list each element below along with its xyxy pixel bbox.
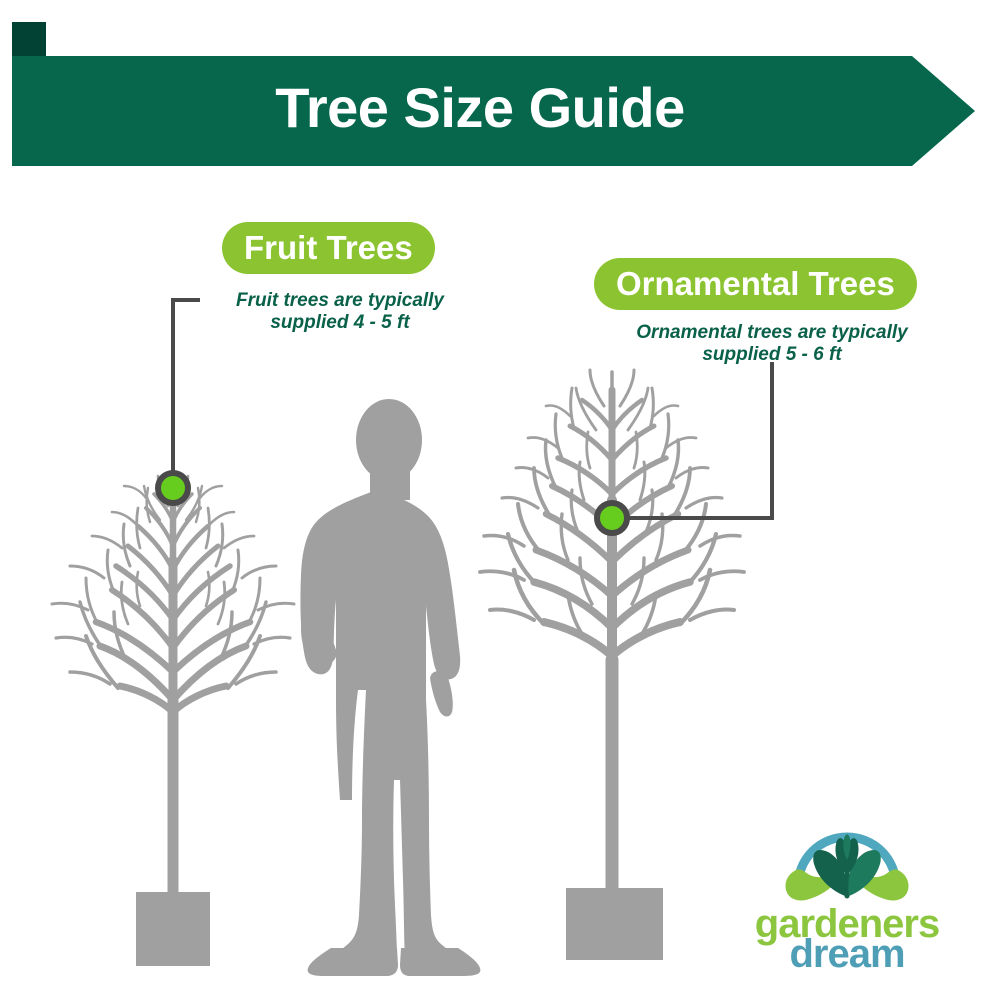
ornamental-tree-illustration (480, 370, 744, 960)
badge-ornamental-trees[interactable]: Ornamental Trees (594, 258, 917, 310)
caption-ornamental-trees: Ornamental trees are typically supplied … (612, 322, 932, 366)
brand-logo[interactable]: gardeners dream (752, 808, 942, 976)
infographic-canvas: Tree Size Guide (0, 0, 1000, 1000)
badge-fruit-trees[interactable]: Fruit Trees (222, 222, 435, 274)
logo-mark-icon (752, 808, 942, 908)
caption-fruit-trees: Fruit trees are typically supplied 4 - 5… (190, 290, 490, 334)
fruit-tree-illustration (52, 476, 294, 966)
person-silhouette (300, 399, 480, 976)
logo-wordmark-bottom: dream (752, 934, 942, 974)
